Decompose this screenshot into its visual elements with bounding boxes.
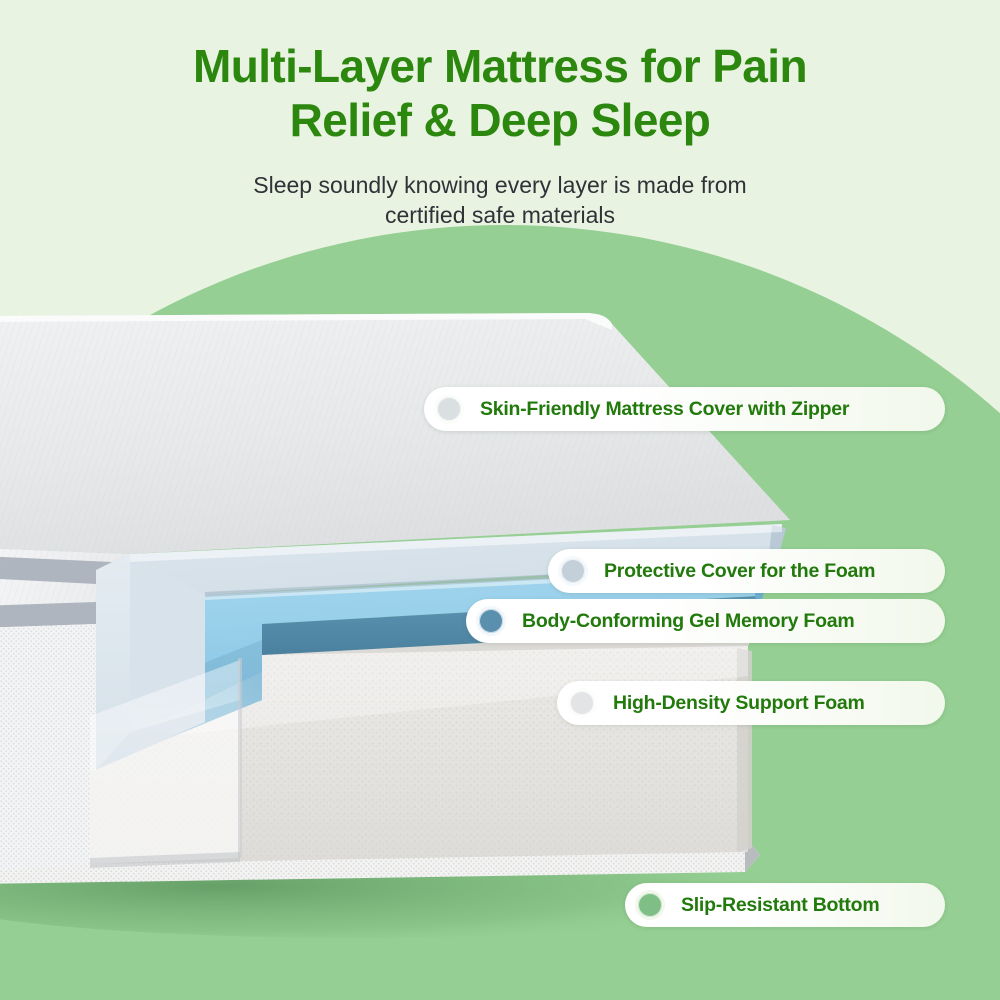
bullet-dot-icon [434, 394, 464, 424]
callout-label: Skin-Friendly Mattress Cover with Zipper [480, 398, 849, 421]
infographic-canvas: Multi-Layer Mattress for Pain Relief & D… [0, 0, 1000, 1000]
bullet-dot-icon [567, 688, 597, 718]
callout-label: Body-Conforming Gel Memory Foam [522, 610, 854, 633]
callout-high-density-foam[interactable]: High-Density Support Foam [557, 681, 945, 725]
callout-gel-memory-foam[interactable]: Body-Conforming Gel Memory Foam [466, 599, 945, 643]
page-title: Multi-Layer Mattress for Pain Relief & D… [0, 0, 1000, 148]
callout-slip-resistant-bottom[interactable]: Slip-Resistant Bottom [625, 883, 945, 927]
bullet-dot-icon [635, 890, 665, 920]
callout-label: Protective Cover for the Foam [604, 560, 875, 583]
bullet-dot-icon [476, 606, 506, 636]
header-block: Multi-Layer Mattress for Pain Relief & D… [0, 0, 1000, 231]
bullet-dot-icon [558, 556, 588, 586]
callout-skin-friendly-cover[interactable]: Skin-Friendly Mattress Cover with Zipper [424, 387, 945, 431]
page-subtitle: Sleep soundly knowing every layer is mad… [0, 170, 1000, 231]
callout-label: High-Density Support Foam [613, 692, 865, 715]
callout-protective-cover[interactable]: Protective Cover for the Foam [548, 549, 945, 593]
callout-label: Slip-Resistant Bottom [681, 894, 879, 917]
